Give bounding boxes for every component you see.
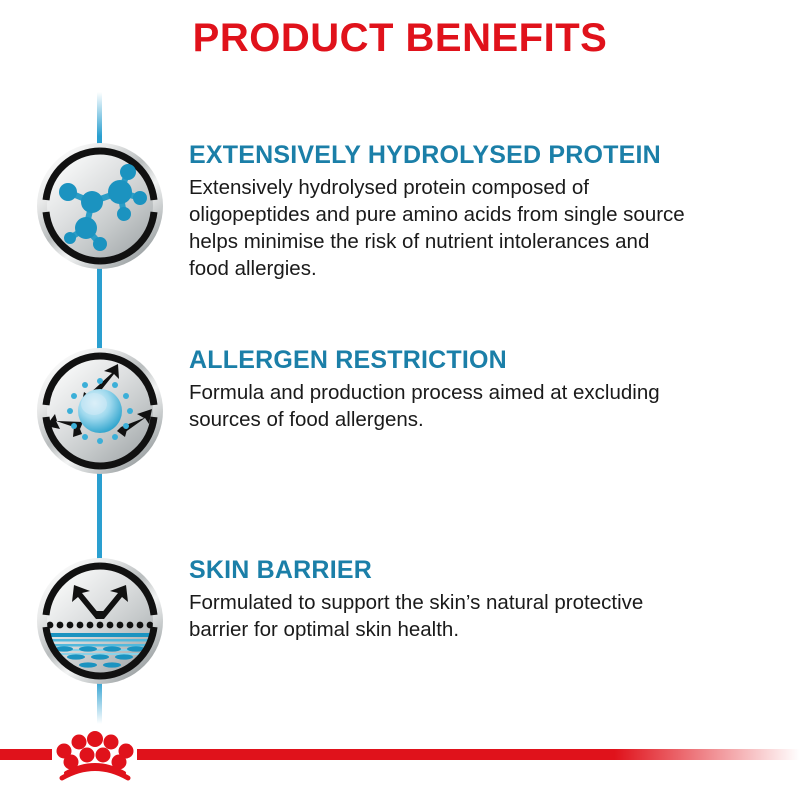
- page-title: PRODUCT BENEFITS: [0, 18, 800, 58]
- benefit-body: Extensively hydrolysed protein composed …: [189, 175, 779, 282]
- benefit-text-block: SKIN BARRIER Formulated to support the s…: [189, 557, 779, 644]
- benefit-body: Formulated to support the skin’s natural…: [189, 590, 779, 644]
- royal-canin-crown-logo: [52, 729, 138, 781]
- allergen-restriction-icon: [36, 347, 164, 475]
- benefit-heading: EXTENSIVELY HYDROLYSED PROTEIN: [189, 142, 779, 169]
- benefit-text-block: EXTENSIVELY HYDROLYSED PROTEIN Extensive…: [189, 142, 779, 282]
- skin-barrier-icon: [36, 557, 164, 685]
- molecule-icon: [36, 142, 164, 270]
- footer-rule-right: [137, 749, 800, 760]
- footer-rule-left: [0, 749, 52, 760]
- benefit-body: Formula and production process aimed at …: [189, 380, 779, 434]
- benefit-heading: SKIN BARRIER: [189, 557, 779, 584]
- benefit-heading: ALLERGEN RESTRICTION: [189, 347, 779, 374]
- footer: [0, 720, 800, 800]
- benefit-text-block: ALLERGEN RESTRICTION Formula and product…: [189, 347, 779, 434]
